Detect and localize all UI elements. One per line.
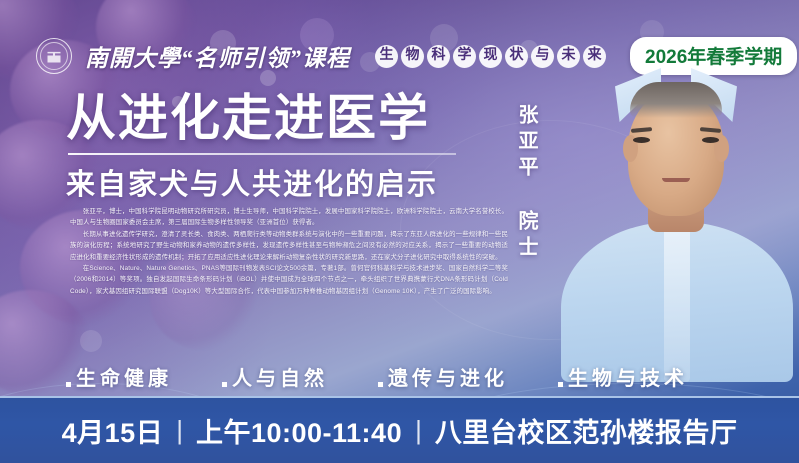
topic-tag: 遗传与进化 (378, 362, 508, 391)
topic-tag-label: 生物与技术 (568, 362, 688, 391)
portrait-eye-left (633, 137, 650, 143)
series-char: 物 (401, 45, 424, 68)
series-char: 未 (557, 45, 580, 68)
page-title: 从进化走进医学 (66, 92, 486, 145)
series-char: 现 (479, 45, 502, 68)
series-char: 来 (583, 45, 606, 68)
event-venue: 八里台校区范孙楼报告厅 (435, 411, 738, 450)
portrait-eye-right (702, 137, 719, 143)
square-bullet-icon (66, 382, 71, 387)
lecture-poster: 南開大學“名师引领”课程 生 物 科 学 现 状 与 未 来 2026年春季学期… (0, 0, 799, 463)
square-bullet-icon (558, 382, 563, 387)
university-seal-icon (36, 38, 72, 74)
speaker-name-vertical: 张亚平 院士 (516, 104, 536, 262)
poster-footer: 4月15日 | 上午10:00-11:40 | 八里台校区范孙楼报告厅 (0, 396, 799, 463)
topic-tag: 人与自然 (222, 362, 328, 391)
speaker-bio: 张亚平，博士，中国科学院昆明动物研究所研究员，博士生导师，中国科学院院士，发展中… (70, 206, 508, 297)
event-date: 4月15日 (62, 411, 164, 450)
footer-separator: | (415, 415, 422, 446)
topic-tag: 生命健康 (66, 362, 172, 391)
topic-tag: 生物与技术 (558, 362, 688, 391)
footer-separator: | (176, 415, 183, 446)
series-title-badges: 生 物 科 学 现 状 与 未 来 (375, 45, 606, 68)
bio-paragraph: 张亚平，博士，中国科学院昆明动物研究所研究员，博士生导师，中国科学院院士，发展中… (70, 206, 508, 229)
bio-paragraph: 长期从事进化遗传学研究，澄清了灵长类、食肉类、两栖爬行类等动物类群系统与演化中的… (70, 229, 508, 263)
series-char: 状 (505, 45, 528, 68)
portrait-hair (630, 82, 722, 118)
topic-tag-list: 生命健康 人与自然 遗传与进化 生物与技术 (0, 358, 799, 394)
topic-tag-label: 遗传与进化 (388, 362, 508, 391)
series-char: 科 (427, 45, 450, 68)
event-time: 上午10:00-11:40 (196, 411, 402, 450)
series-char: 与 (531, 45, 554, 68)
series-char: 生 (375, 45, 398, 68)
topic-tag-label: 生命健康 (76, 362, 172, 391)
bio-paragraph: 在Science、Nature、Nature Genetics、PNAS等国际刊… (70, 263, 508, 297)
title-block: 从进化走进医学 来自家犬与人共进化的启示 (66, 92, 486, 203)
course-program-label: 南開大學“名师引领”课程 (85, 39, 350, 73)
topic-tag-label: 人与自然 (232, 362, 328, 391)
speaker-portrait (553, 70, 799, 382)
page-subtitle: 来自家犬与人共进化的启示 (66, 161, 486, 203)
portrait-mouth (662, 178, 690, 182)
title-divider (68, 153, 456, 155)
square-bullet-icon (222, 382, 227, 387)
square-bullet-icon (378, 382, 383, 387)
series-char: 学 (453, 45, 476, 68)
